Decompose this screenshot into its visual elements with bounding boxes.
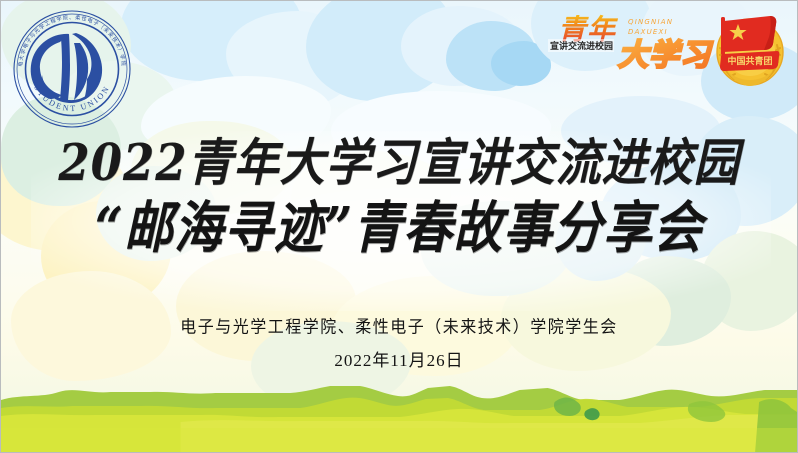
qndxx-pinyin-1: QINGNIAN — [628, 18, 673, 26]
event-date: 2022年11月26日 — [1, 346, 797, 371]
organizer-text: 电子与光学工程学院、柔性电子（未来技术）学院学生会 — [1, 312, 797, 337]
qingnian-daxuexi-logo: 青年 QINGNIAN DAXUEXI 大学习 宣讲交流进校园 — [546, 3, 726, 81]
title-block: 2022青年大学习宣讲交流进校园 “邮海寻迹”青春故事分享会 — [1, 139, 797, 255]
communist-youth-league-emblem: 中国共青团 — [707, 7, 793, 93]
student-union-logo: 南京邮电大学电子与光学工程学院、柔性电子（未来技术）学院学生会 STUDENT … — [6, 3, 138, 135]
poster-title-line-1: 2022青年大学习宣讲交流进校园 — [1, 136, 797, 190]
poster-title-line-2: “邮海寻迹”青春故事分享会 — [1, 198, 797, 259]
subtitle-block: 电子与光学工程学院、柔性电子（未来技术）学院学生会 2022年11月26日 — [1, 313, 797, 371]
poster-canvas: 南京邮电大学电子与光学工程学院、柔性电子（未来技术）学院学生会 STUDENT … — [0, 0, 798, 453]
qndxx-main-text-2: 大学习 — [618, 38, 714, 73]
qndxx-pinyin-2: DAXUEXI — [628, 28, 668, 36]
cyl-emblem-text: 中国共青团 — [727, 55, 772, 67]
qndxx-tagline: 宣讲交流进校园 — [550, 40, 613, 52]
